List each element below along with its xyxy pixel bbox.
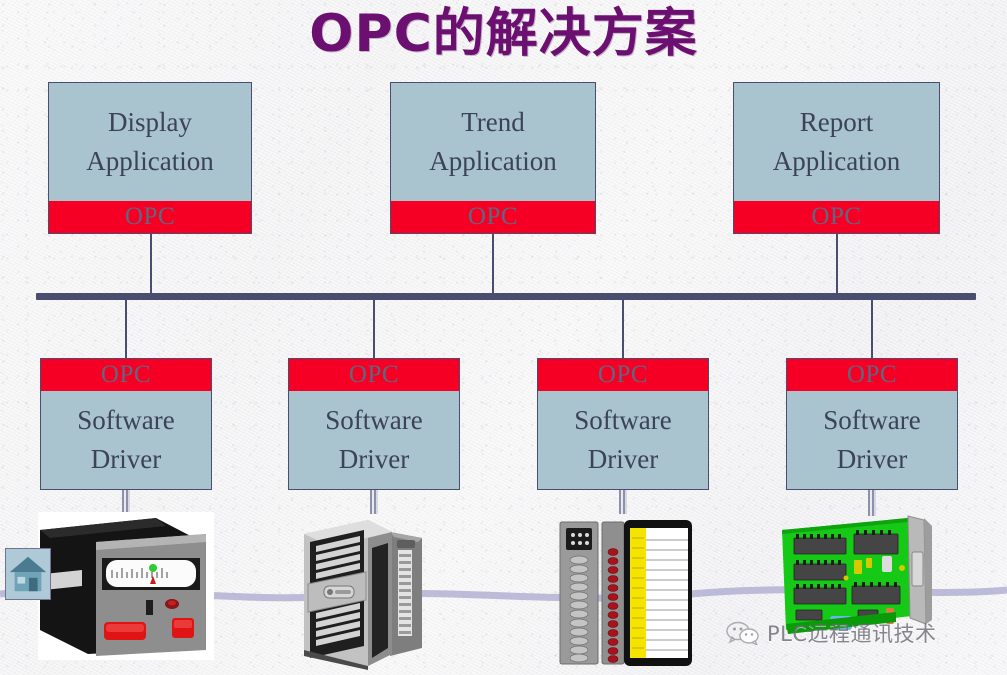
connector-report-to-bus	[836, 234, 838, 298]
connector-trend-to-bus	[492, 234, 494, 298]
panel-meter-device	[38, 512, 214, 660]
connector-bus-to-driver-3	[622, 300, 624, 360]
report-application-opc-band: OPC	[734, 201, 939, 233]
software-driver-4-line1: Software	[823, 401, 920, 440]
trend-application-box[interactable]: Trend Application OPC	[390, 82, 596, 234]
connector-bus-to-driver-4	[871, 300, 873, 360]
display-application-line2: Application	[86, 142, 213, 181]
software-driver-1-line2: Driver	[91, 440, 161, 479]
watermark: PLC远程通讯技术	[726, 618, 937, 648]
report-application-line2: Application	[773, 142, 900, 181]
software-driver-1-label: Software Driver	[41, 391, 211, 489]
wechat-icon	[726, 621, 760, 645]
software-driver-box-1[interactable]: OPC Software Driver	[40, 358, 212, 490]
connector-display-to-bus	[150, 234, 152, 298]
server-tower-device	[294, 508, 438, 672]
software-driver-box-2[interactable]: OPC Software Driver	[288, 358, 460, 490]
software-driver-1-opc-band: OPC	[41, 359, 211, 391]
connector-bus-to-driver-2	[373, 300, 375, 360]
software-driver-box-4[interactable]: OPC Software Driver	[786, 358, 958, 490]
trend-application-label: Trend Application	[391, 83, 595, 201]
software-driver-3-label: Software Driver	[538, 391, 708, 489]
plc-io-module-device	[556, 512, 696, 670]
connector-bus-to-driver-1	[125, 300, 127, 360]
software-driver-4-line2: Driver	[837, 440, 907, 479]
display-application-label: Display Application	[49, 83, 251, 201]
software-driver-2-opc-band: OPC	[289, 359, 459, 391]
software-driver-box-3[interactable]: OPC Software Driver	[537, 358, 709, 490]
trend-application-line1: Trend	[461, 103, 525, 142]
home-icon	[6, 549, 50, 599]
watermark-text: PLC远程通讯技术	[767, 618, 937, 648]
software-driver-4-label: Software Driver	[787, 391, 957, 489]
opc-network-bus	[36, 293, 976, 300]
software-driver-2-line1: Software	[325, 401, 422, 440]
software-driver-3-opc-band: OPC	[538, 359, 708, 391]
software-driver-2-label: Software Driver	[289, 391, 459, 489]
report-application-line1: Report	[800, 103, 874, 142]
software-driver-3-line1: Software	[574, 401, 671, 440]
report-application-label: Report Application	[734, 83, 939, 201]
software-driver-2-line2: Driver	[339, 440, 409, 479]
page-title: OPC的解决方案	[0, 2, 1007, 66]
cable-driver-3-to-device	[619, 490, 627, 514]
display-application-opc-band: OPC	[49, 201, 251, 233]
software-driver-1-line1: Software	[77, 401, 174, 440]
software-driver-3-line2: Driver	[588, 440, 658, 479]
display-application-line1: Display	[108, 103, 192, 142]
software-driver-4-opc-band: OPC	[787, 359, 957, 391]
slide-canvas: OPC的解决方案 Display Application OPC Trend A…	[0, 0, 1007, 675]
display-application-box[interactable]: Display Application OPC	[48, 82, 252, 234]
trend-application-opc-band: OPC	[391, 201, 595, 233]
trend-application-line2: Application	[429, 142, 556, 181]
home-button[interactable]	[5, 548, 51, 600]
report-application-box[interactable]: Report Application OPC	[733, 82, 940, 234]
